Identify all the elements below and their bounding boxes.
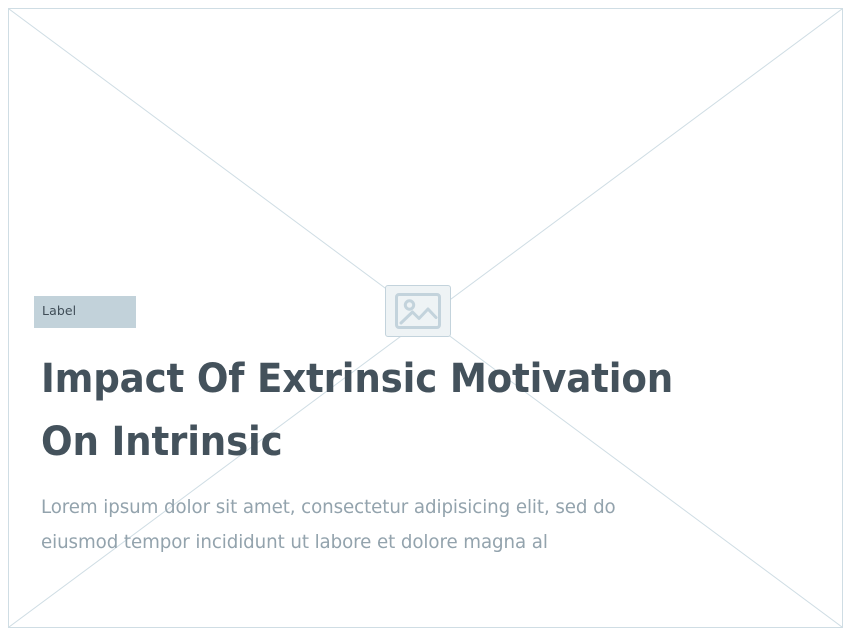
page-title: Impact Of Extrinsic Motivation On Intrin…: [41, 348, 673, 474]
icon-sun-circle: [405, 301, 413, 309]
label-badge: Label: [34, 296, 136, 328]
card-content: Label Impact Of Extrinsic Motivation On …: [34, 296, 734, 560]
icon-mountain-path: [401, 309, 436, 323]
body-paragraph: Lorem ipsum dolor sit amet, consectetur …: [41, 490, 617, 560]
image-placeholder-icon: [385, 285, 451, 337]
